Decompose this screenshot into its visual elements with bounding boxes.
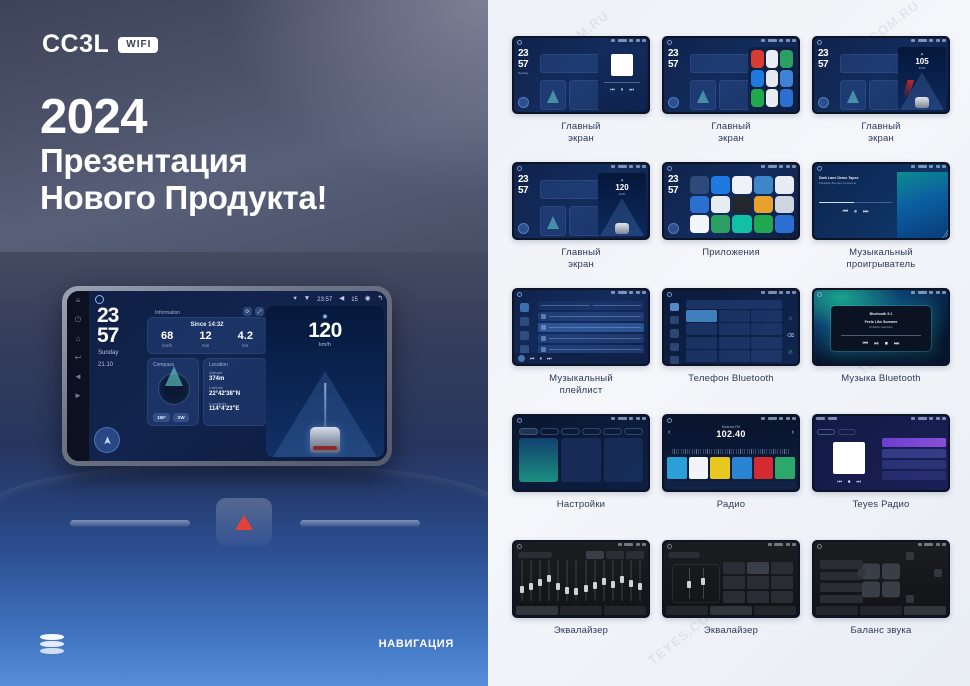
longitude-value: 114°4'23"E	[209, 406, 261, 414]
thumbnail-caption: Главныйэкран	[561, 121, 600, 145]
screen-preview	[814, 542, 948, 616]
app-icon	[766, 70, 779, 88]
screen-preview: 23 57 ◉ 105 km/h	[814, 38, 948, 112]
visual-line	[900, 180, 948, 238]
screen-preview	[514, 416, 648, 490]
side-button-rail: ≡ ⏻ ⌂ ↩ ◄ ►	[67, 291, 89, 461]
status-bar	[611, 417, 646, 420]
list-item	[882, 471, 946, 480]
app-icon	[711, 176, 730, 194]
status-bar	[611, 165, 646, 168]
preset-button	[771, 576, 793, 588]
eq-band	[536, 558, 543, 603]
metric-unit: min	[199, 343, 211, 348]
home-icon	[667, 166, 672, 171]
speed-value: 105	[898, 56, 946, 66]
equalizer-bands	[518, 558, 644, 605]
tab-wifi	[519, 428, 538, 435]
trip-information-card[interactable]: Since 14:32 68 km/h 12 min	[147, 317, 267, 354]
previous-icon: ⏮	[863, 341, 868, 348]
compass-heading-cone	[165, 366, 183, 386]
status-bar	[918, 543, 947, 546]
home-indicator-icon[interactable]	[95, 295, 104, 304]
app-icon	[732, 215, 751, 233]
wifi-icon: ▾	[293, 296, 296, 303]
thumbnail-caption: Главныйэкран	[861, 121, 900, 145]
tab-sound	[560, 606, 602, 615]
trip-information-card	[540, 180, 600, 199]
screen-preview	[664, 542, 798, 616]
gallery-item[interactable]: Moscow FM 102.40 ‹ ›	[660, 414, 802, 540]
latitude-value: 22°42'38"N	[209, 391, 261, 399]
gallery-item[interactable]: ⏮ ⏸ ⏭ Музыкальныйплейлист	[510, 288, 652, 414]
clock-minutes: 57	[518, 186, 528, 195]
speed-icon: ◉	[898, 47, 946, 56]
filter-pill	[817, 429, 835, 435]
hazard-triangle-icon	[235, 515, 253, 530]
speed-icon: ◉	[598, 173, 646, 182]
screen-preview: 23 57 Sunday ⏮	[514, 38, 648, 112]
eq-band	[609, 558, 616, 603]
compass-heading-cone	[547, 90, 559, 103]
fader	[701, 565, 705, 602]
brand-name: CC3L	[42, 32, 109, 57]
title-year: 2024	[40, 92, 327, 143]
thumbnail-radio[interactable]: Moscow FM 102.40 ‹ ›	[662, 414, 800, 492]
seat-front-right	[882, 563, 900, 579]
app-icon	[780, 70, 793, 88]
screenshot-gallery: TEYES.COM.RU TEYES.COM.RU TEYES.COM.RU T…	[488, 0, 970, 686]
previous-icon: ⏮	[530, 356, 535, 362]
list-item	[882, 460, 946, 469]
home-icon[interactable]: ⌂	[76, 335, 81, 343]
car-dashboard-photo: ≡ ⏻ ⌂ ↩ ◄ ► ▾ ▼ 23:57 ◀	[0, 252, 488, 686]
thumbnail-home-apps[interactable]: 23 57	[662, 36, 800, 114]
tab-about	[603, 428, 622, 435]
home-icon	[817, 166, 822, 171]
app-icon	[766, 50, 779, 68]
compass-heading-cone	[547, 216, 559, 229]
screen-preview: Dark Lane Demo Tapes Paradise Bungee Cro…	[814, 164, 948, 238]
seat-balance-pad	[862, 563, 900, 597]
dial-key	[751, 337, 782, 349]
refresh-icon[interactable]: ⟳	[243, 307, 252, 316]
gallery-item[interactable]: Баланс звука	[810, 540, 952, 666]
navigation-fab	[668, 97, 679, 108]
pause-icon: ⏸	[854, 209, 857, 216]
thumbnail-bt-music[interactable]: Bluetooth 5.1 Feels Like Summer Childish…	[812, 288, 950, 366]
more-tile	[604, 438, 643, 482]
app-shortcuts	[748, 47, 796, 110]
clock-minutes: 57	[518, 60, 528, 69]
thumbnail-home-speed[interactable]: 23 57 ◉ 105 km/h	[812, 36, 950, 114]
gallery-item[interactable]: 23 57 ◉ 120 km/h	[510, 162, 652, 288]
previous-icon: ⏮	[610, 87, 615, 93]
info-widgets: Information ⟳ ⤢ Since 14:32	[147, 307, 267, 457]
thumbnail-settings[interactable]	[512, 414, 650, 492]
status-bar	[911, 39, 946, 42]
thumbnail-caption: Приложения	[702, 247, 760, 259]
app-icon	[690, 215, 709, 233]
thumbnail-apps-grid[interactable]: 23 57	[662, 162, 800, 240]
thumbnail-caption: Телефон Bluetooth	[688, 373, 774, 385]
progress-bar	[604, 82, 640, 83]
tab-sound	[860, 606, 902, 615]
tab-eq	[816, 606, 858, 615]
gallery-item[interactable]: 23 57	[660, 36, 802, 162]
tab-eq	[516, 606, 558, 615]
gallery-item[interactable]: ⏮ ⏹ ⏭ Teyes Рад	[810, 414, 952, 540]
clock-day: Sunday	[518, 71, 528, 76]
navigation-fab	[818, 97, 829, 108]
hazard-light-button[interactable]	[216, 498, 272, 546]
eq-band	[545, 558, 552, 603]
thumbnail-caption: Музыка Bluetooth	[841, 373, 921, 385]
speed-unit: km/h	[598, 192, 646, 196]
latitude-row: Latitude 22°42'38"N	[204, 383, 266, 398]
station-tile	[667, 457, 687, 479]
power-icon[interactable]: ⏻	[75, 316, 81, 324]
thumbnail-music-playlist[interactable]: ⏮ ⏸ ⏭	[512, 288, 650, 366]
metric-value: 12	[199, 331, 211, 342]
radio-toolbar	[666, 481, 796, 489]
gallery-item[interactable]: ☆ ⌫ ✆ Телефон Bluetooth	[660, 288, 802, 414]
speed-widget: ◉ 120 km/h	[598, 173, 646, 236]
app-icon	[690, 176, 709, 194]
next-icon: ⏭	[894, 341, 899, 348]
metric: 68 km/h	[161, 331, 173, 348]
metric-unit: km/h	[161, 343, 173, 348]
ui-home-screen: ▾ ▼ 23:57 ◀ 15 ◉ ↰ 23 57 Sunday	[89, 291, 387, 461]
thumbnail-music-player[interactable]: Dark Lane Demo Tapes Paradise Bungee Cro…	[812, 162, 950, 240]
screen-preview: 23 57	[664, 164, 798, 238]
preset-button	[771, 591, 793, 603]
hero-footer: НАВИГАЦИЯ	[40, 634, 454, 654]
clock-hours: 23	[818, 49, 828, 58]
app-icon	[780, 89, 793, 107]
thumbnail-caption: Настройки	[557, 499, 605, 511]
clock-hours: 23	[518, 49, 528, 58]
gallery-item[interactable]: 23 57 ◉ 105 km/h	[810, 36, 952, 162]
gallery-item[interactable]: Эквалайзер	[660, 540, 802, 666]
status-bar	[911, 165, 946, 168]
status-bar	[618, 543, 647, 546]
bluetooth-now-playing: Bluetooth 5.1 Feels Like Summer Childish…	[831, 306, 930, 350]
bottom-tabs	[516, 606, 646, 615]
speed-unit: km/h	[898, 66, 946, 70]
artists-icon	[520, 317, 529, 326]
home-icon	[817, 292, 822, 297]
home-icon	[667, 292, 672, 297]
backspace-icon: ⌫	[787, 333, 794, 339]
bluetooth-version: Bluetooth 5.1	[831, 312, 930, 316]
app-icon	[754, 215, 773, 233]
tab-balance	[754, 606, 796, 615]
app-icon	[751, 50, 764, 68]
app-icon	[754, 196, 773, 214]
status-bar	[761, 291, 796, 294]
app-header	[816, 417, 837, 420]
screen-preview: ⏮ ⏹ ⏭	[814, 416, 948, 490]
thumbnail-caption: Баланс звука	[851, 625, 912, 637]
head-unit-screen: ≡ ⏻ ⌂ ↩ ◄ ► ▾ ▼ 23:57 ◀	[67, 291, 387, 461]
home-icon	[517, 544, 522, 549]
home-icon	[517, 166, 522, 171]
location-widget	[719, 80, 750, 110]
home-icon	[517, 292, 522, 297]
dial-key	[719, 350, 750, 362]
gallery-item[interactable]: Эквалайзер	[510, 540, 652, 666]
status-bar: ▾ ▼ 23:57 ◀ 15 ◉ ↰	[293, 294, 383, 305]
compass-widget[interactable]: Compass 180° SW	[147, 358, 199, 426]
next-icon: ⏭	[547, 356, 552, 362]
hero-panel: TEYES.COM.RU TEYES.COM.RU TEYES.COM.RU C…	[0, 0, 488, 686]
compass-heading: 180°	[153, 413, 170, 422]
settings-tabs	[519, 428, 643, 435]
page-title: 2024 Презентация Нового Продукта!	[40, 92, 327, 217]
wifi-tile	[519, 438, 558, 482]
dial-actions: ☆ ⌫ ✆	[784, 310, 797, 362]
head-unit-bezel: ≡ ⏻ ⌂ ↩ ◄ ► ▾ ▼ 23:57 ◀	[62, 286, 392, 466]
clock-minutes: 57	[818, 60, 828, 69]
eq-band	[600, 558, 607, 603]
mini-player: ⏮ ⏸ ⏭	[514, 353, 648, 364]
eq-band	[518, 558, 525, 603]
thumbnail-home-nav[interactable]: 23 57 ◉ 120 km/h	[512, 162, 650, 240]
metric-unit: km	[238, 343, 253, 348]
app-icon	[751, 89, 764, 107]
list-item	[538, 334, 644, 343]
gallery-item[interactable]: 23 57 Sunday ⏮	[510, 36, 652, 162]
station-presets	[667, 457, 795, 479]
thumbnail-caption: Эквалайзер	[704, 625, 758, 637]
altitude-value: 374m	[209, 376, 261, 384]
radio-tuner: Moscow FM 102.40	[664, 425, 798, 439]
navigation-fab	[518, 97, 529, 108]
bottom-tabs	[666, 606, 796, 615]
media-controls: ⏮ ⏯ ⏹ ⏭	[831, 341, 930, 348]
tab-balance	[604, 606, 646, 615]
preset-button	[723, 576, 745, 588]
tab-system	[582, 428, 601, 435]
thumbnail-caption: Музыкальныйпроигрыватель	[847, 247, 916, 271]
compass-widget	[540, 206, 566, 236]
option-row	[820, 572, 863, 581]
app-icon	[754, 176, 773, 194]
tab-eq	[666, 606, 708, 615]
station-tile	[732, 457, 752, 479]
status-bar	[611, 39, 646, 42]
balance-options	[820, 560, 863, 603]
screen-preview	[514, 542, 648, 616]
gallery-item[interactable]: Bluetooth 5.1 Feels Like Summer Childish…	[810, 288, 952, 414]
pause-icon: ⏸	[621, 87, 624, 93]
navigation-fab[interactable]	[94, 427, 120, 453]
media-controls: ⏮ ⏹ ⏭	[817, 479, 881, 485]
volume-icon: ◀	[339, 296, 344, 303]
song-artist: Childish Gambino	[831, 325, 930, 330]
car-3d-model	[310, 427, 340, 453]
now-playing: Dark Lane Demo Tapes Paradise Bungee Cro…	[814, 172, 897, 238]
eq-band	[628, 558, 635, 603]
app-icon	[780, 50, 793, 68]
location-label: Location	[204, 359, 266, 369]
list-item	[538, 312, 644, 321]
gps-icon: ◉	[365, 296, 371, 303]
clock-hours: 23	[518, 175, 528, 184]
speed-value: 120	[266, 320, 384, 341]
speed-icon: ◉	[266, 306, 384, 320]
tune-up-icon: ›	[792, 429, 794, 436]
gallery-item[interactable]: Настройки	[510, 414, 652, 540]
eq-band	[637, 558, 644, 603]
volume-down-icon[interactable]: ◄	[74, 373, 82, 381]
wifi-badge: WIFI	[118, 37, 158, 53]
screen-preview: 23 57	[664, 38, 798, 112]
option-row	[820, 583, 863, 592]
balance-right-button	[934, 569, 942, 577]
metric: 4.2 km	[238, 331, 253, 348]
volume-up-icon[interactable]: ►	[74, 392, 82, 400]
status-bar	[611, 291, 646, 294]
media-widget: ⏮ ⏸ ⏭	[598, 47, 646, 110]
screen-preview: Bluetooth 5.1 Feels Like Summer Childish…	[814, 290, 948, 364]
screen-preview: ☆ ⌫ ✆	[664, 290, 798, 364]
compass-widget	[690, 80, 716, 110]
speed-widget[interactable]: ◉ 120 km/h	[266, 306, 384, 457]
play-pause-icon: ⏯	[874, 341, 879, 348]
home-icon	[667, 40, 672, 45]
thumbnail-equalizer-bands[interactable]	[512, 540, 650, 618]
stop-icon: ⏹	[885, 341, 888, 348]
app-icon	[711, 215, 730, 233]
thumbnail-home-media[interactable]: 23 57 Sunday ⏮	[512, 36, 650, 114]
bottom-tabs	[816, 606, 946, 615]
navigation-fab	[518, 223, 529, 234]
home-icon	[817, 40, 822, 45]
contacts-icon	[670, 316, 679, 324]
filter-pills	[817, 429, 945, 435]
menu-icon[interactable]: ≡	[76, 297, 81, 305]
compass-widget	[840, 80, 866, 110]
eq-band	[555, 558, 562, 603]
list-item	[538, 323, 644, 332]
tab-display	[561, 428, 580, 435]
preset-button	[747, 562, 769, 574]
longitude-row: Longitude 114°4'23"E	[204, 399, 266, 414]
app-icon	[690, 196, 709, 214]
back-icon[interactable]: ↩	[75, 354, 82, 362]
gallery-grid: 23 57 Sunday ⏮	[510, 36, 952, 666]
now-playing: ⏮ ⏹ ⏭	[817, 438, 881, 487]
dial-key	[686, 310, 717, 322]
station-tile	[689, 457, 709, 479]
app-icon	[775, 196, 794, 214]
dial-key	[686, 337, 717, 349]
preset-button	[747, 591, 769, 603]
car-3d-model	[915, 97, 929, 108]
fader	[687, 565, 691, 602]
compass-dial	[158, 373, 190, 405]
list-item	[882, 449, 946, 458]
call-icon: ✆	[788, 350, 792, 356]
station-tile	[710, 457, 730, 479]
number-input	[686, 300, 782, 309]
compass-widget	[540, 80, 566, 110]
thumbnail-sound-balance[interactable]	[812, 540, 950, 618]
metric: 12 min	[199, 331, 211, 348]
clock-minutes: 57	[668, 186, 678, 195]
status-bar	[911, 417, 946, 420]
media-controls: ⏮ ⏸ ⏭	[598, 87, 646, 93]
expand-icon[interactable]: ⤢	[255, 307, 264, 316]
album-art	[611, 54, 633, 76]
status-bar	[761, 417, 796, 420]
home-icon	[517, 40, 522, 45]
eq-band	[591, 558, 598, 603]
tab-more	[624, 428, 643, 435]
balance-left-button	[858, 569, 866, 577]
call-log-icon	[670, 343, 679, 351]
track-list	[536, 299, 646, 353]
album-art	[833, 442, 865, 474]
presentation-slide: TEYES.COM.RU TEYES.COM.RU TEYES.COM.RU C…	[0, 0, 970, 686]
tab-balance	[904, 606, 946, 615]
metric-value: 68	[161, 331, 173, 342]
favorite-icon: ☆	[788, 316, 792, 322]
thumbnail-bt-phone[interactable]: ☆ ⌫ ✆	[662, 288, 800, 366]
thumbnail-teyes-radio[interactable]: ⏮ ⏹ ⏭	[812, 414, 950, 492]
compass-heading-cone	[697, 90, 709, 103]
dial-key	[719, 337, 750, 349]
traffic-usage-tile	[561, 438, 600, 482]
filter-pill	[838, 429, 856, 435]
thumbnail-equalizer-presets[interactable]	[662, 540, 800, 618]
list-header	[538, 301, 644, 310]
preset-button	[723, 591, 745, 603]
layers-icon	[40, 634, 64, 654]
navigation-arrow-icon	[102, 435, 113, 446]
trip-metrics: 68 km/h 12 min 4.2 km	[148, 328, 266, 353]
eq-band	[527, 558, 534, 603]
back-icon[interactable]: ↰	[378, 296, 383, 303]
location-widget[interactable]: Location Altitude 374m Latitude 22°42'38…	[203, 358, 267, 426]
location-widget	[569, 206, 600, 236]
settings-panel	[516, 425, 646, 488]
clock-hours: 23	[668, 49, 678, 58]
navigation-label: НАВИГАЦИЯ	[379, 638, 454, 650]
status-bar	[768, 543, 797, 546]
thumbnail-caption: Эквалайзер	[554, 625, 608, 637]
screen-preview: Moscow FM 102.40 ‹ ›	[664, 416, 798, 490]
option-row	[820, 595, 863, 604]
speed-widget: ◉ 105 km/h	[898, 47, 946, 110]
app-drawer	[688, 173, 796, 236]
seat-rear-right	[882, 581, 900, 597]
gallery-item[interactable]: 23 57	[660, 162, 802, 288]
settings-icon	[670, 356, 679, 364]
gallery-item[interactable]: Dark Lane Demo Tapes Paradise Bungee Cro…	[810, 162, 952, 288]
screen-preview: 23 57 ◉ 120 km/h	[514, 164, 648, 238]
status-bar	[911, 291, 946, 294]
home-icon	[667, 544, 672, 549]
frequency-scale	[672, 449, 790, 454]
next-icon: ⏭	[856, 479, 861, 485]
seat-rear-left	[862, 581, 880, 597]
app-icon	[751, 70, 764, 88]
app-icon	[711, 196, 730, 214]
compass-heading-cone	[847, 90, 859, 103]
